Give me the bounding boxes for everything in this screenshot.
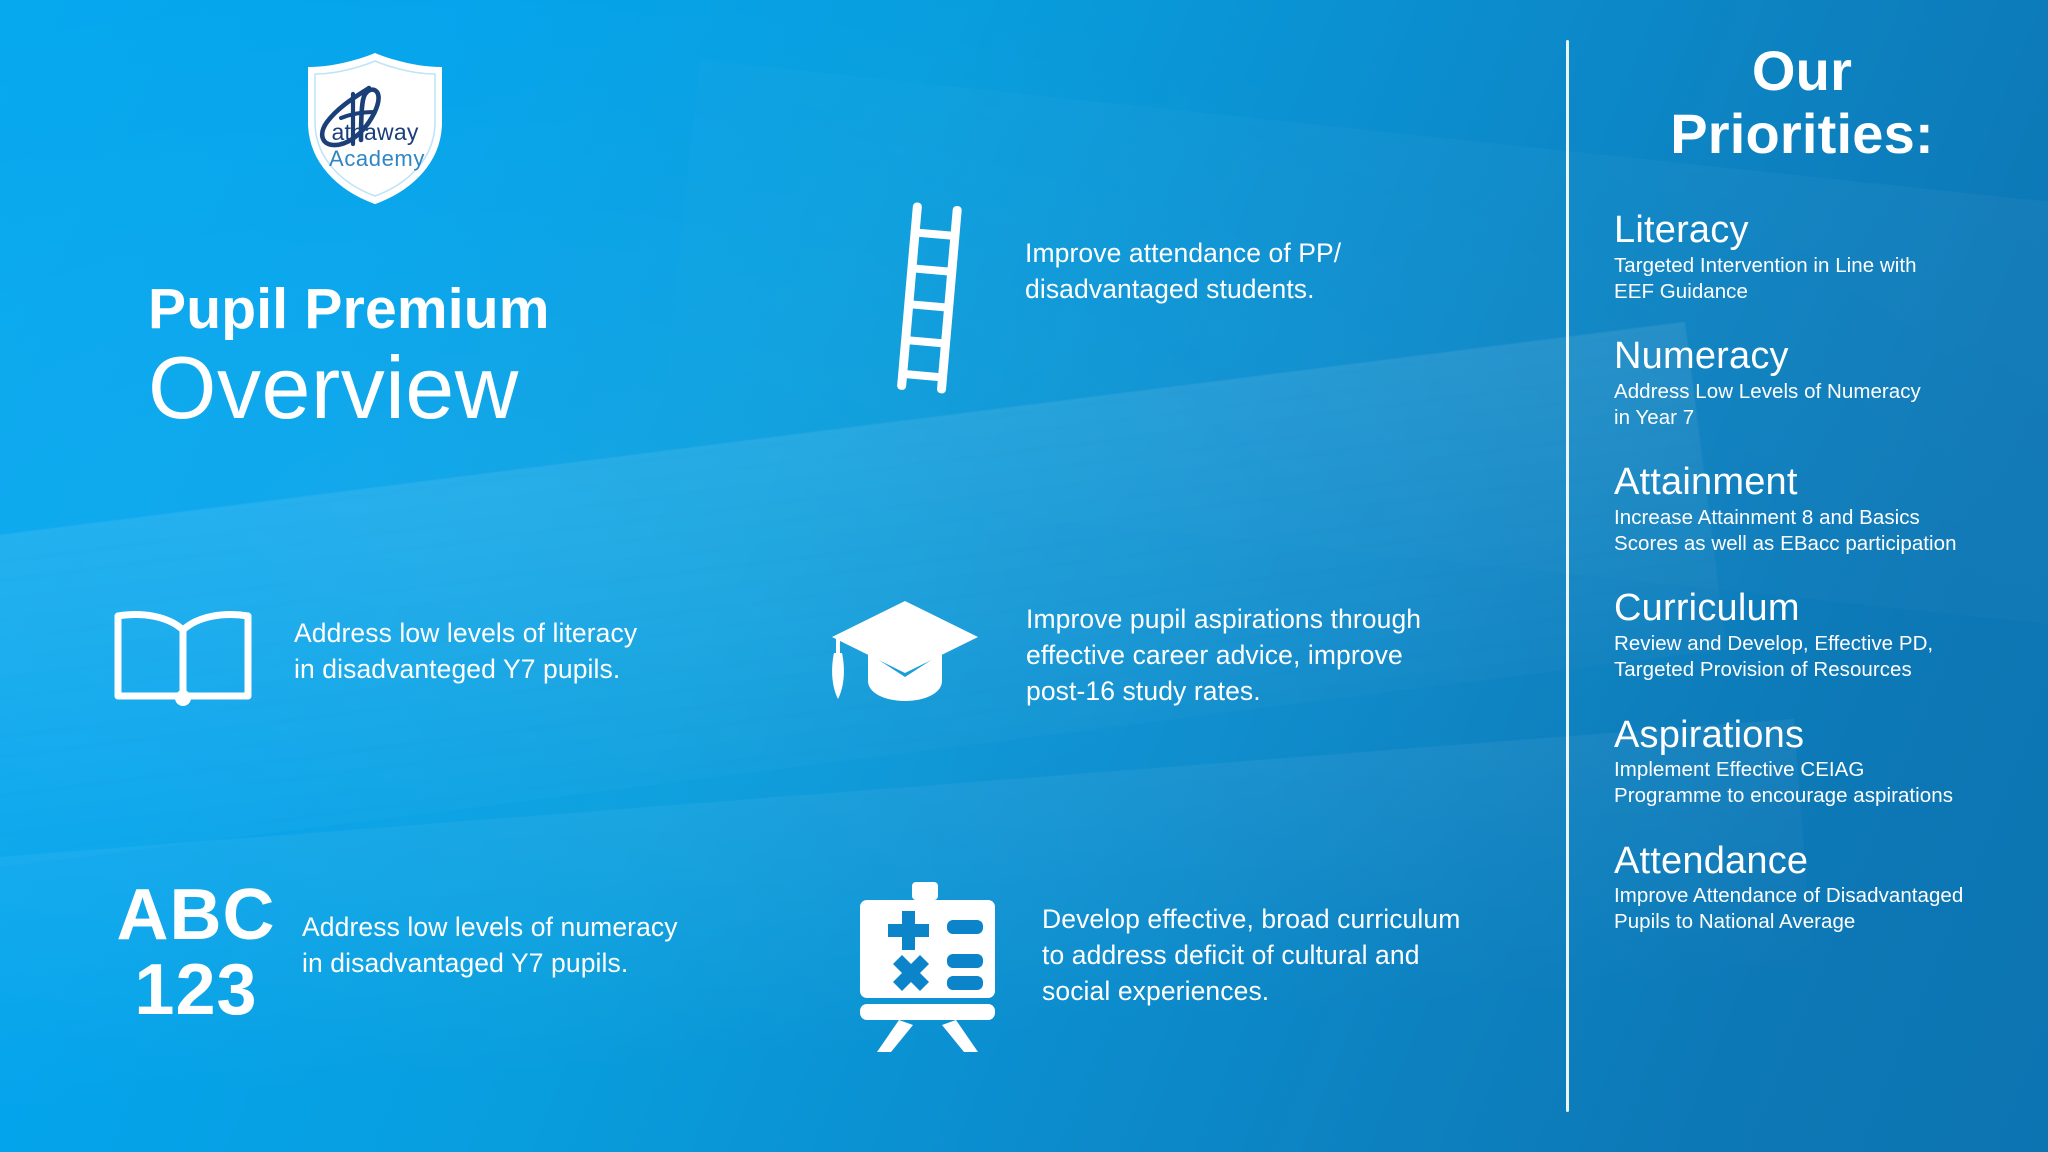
point-aspiration-line-2: effective career advice, improve (1026, 638, 1421, 674)
page-title: Pupil Premium Overview (148, 280, 708, 434)
priority-description: Implement Effective CEIAG Programme to e… (1614, 757, 2014, 809)
hathaway-academy-shield-logo: athaway Academy (295, 48, 455, 208)
priority-desc-line-2: Pupils to National Average (1614, 909, 2014, 935)
priority-item-curriculum: Curriculum Review and Develop, Effective… (1614, 587, 2014, 683)
priority-item-literacy: Literacy Targeted Intervention in Line w… (1614, 209, 2014, 305)
point-attendance-line-2: disadvantaged students. (1025, 272, 1341, 308)
title-line-1: Pupil Premium (148, 280, 708, 340)
point-curriculum-line-2: to address deficit of cultural and (1042, 938, 1460, 974)
priority-desc-line-1: Implement Effective CEIAG (1614, 757, 2014, 783)
priority-desc-line-2: EEF Guidance (1614, 279, 2014, 305)
point-curriculum-text: Develop effective, broad curriculum to a… (1042, 902, 1460, 1009)
point-aspiration: Improve pupil aspirations through effect… (830, 595, 1421, 710)
point-numeracy-line-2: in disadvantaged Y7 pupils. (302, 946, 678, 982)
priority-desc-line-2: Programme to encourage aspirations (1614, 783, 2014, 809)
priorities-heading: Our Priorities: (1614, 40, 1990, 165)
point-curriculum-line-3: social experiences. (1042, 974, 1460, 1010)
priority-description: Increase Attainment 8 and Basics Scores … (1614, 505, 2014, 557)
point-curriculum: Develop effective, broad curriculum to a… (855, 880, 1460, 1052)
priority-name: Aspirations (1614, 714, 2014, 757)
easel-whiteboard-icon (855, 880, 1000, 1052)
priorities-heading-line-2: Priorities: (1614, 103, 1990, 166)
123-text: 123 (108, 953, 284, 1028)
ladder-icon (895, 200, 965, 395)
priority-description: Targeted Intervention in Line with EEF G… (1614, 253, 2014, 305)
priority-name: Attendance (1614, 840, 2014, 883)
priority-desc-line-1: Increase Attainment 8 and Basics (1614, 505, 2014, 531)
priority-desc-line-1: Improve Attendance of Disadvantaged (1614, 883, 2014, 909)
priority-desc-line-1: Address Low Levels of Numeracy (1614, 379, 2014, 405)
priority-item-aspirations: Aspirations Implement Effective CEIAG Pr… (1614, 714, 2014, 810)
point-literacy-text: Address low levels of literacy in disadv… (294, 616, 637, 688)
abc-text: ABC (108, 878, 284, 953)
priority-name: Attainment (1614, 461, 2014, 504)
priority-description: Address Low Levels of Numeracy in Year 7 (1614, 379, 2014, 431)
point-literacy: Address low levels of literacy in disadv… (108, 600, 637, 710)
point-curriculum-line-1: Develop effective, broad curriculum (1042, 902, 1460, 938)
point-aspiration-line-1: Improve pupil aspirations through (1026, 602, 1421, 638)
priority-description: Improve Attendance of Disadvantaged Pupi… (1614, 883, 2014, 935)
priorities-heading-line-1: Our (1614, 40, 1990, 103)
svg-text:Academy: Academy (329, 146, 425, 171)
abc-123-text-icon: ABC 123 (108, 878, 284, 1028)
point-numeracy: ABC 123 Address low levels of numeracy i… (108, 878, 678, 1028)
point-attendance-line-1: Improve attendance of PP/ (1025, 236, 1341, 272)
point-literacy-line-2: in disadvanteged Y7 pupils. (294, 652, 637, 688)
infographic-canvas: athaway Academy Pupil Premium Overview A… (0, 0, 2048, 1152)
priorities-panel: Our Priorities: Literacy Targeted Interv… (1614, 40, 2014, 966)
point-attendance: Improve attendance of PP/ disadvantaged … (895, 200, 1341, 395)
point-literacy-line-1: Address low levels of literacy (294, 616, 637, 652)
open-book-icon (108, 600, 258, 710)
svg-text:athaway: athaway (331, 119, 418, 145)
priority-name: Literacy (1614, 209, 2014, 252)
point-aspiration-text: Improve pupil aspirations through effect… (1026, 602, 1421, 709)
priority-desc-line-2: Targeted Provision of Resources (1614, 657, 2014, 683)
graduation-cap-icon (830, 595, 980, 710)
priority-item-attendance: Attendance Improve Attendance of Disadva… (1614, 840, 2014, 936)
priority-name: Curriculum (1614, 587, 2014, 630)
priority-desc-line-2: in Year 7 (1614, 405, 2014, 431)
priority-description: Review and Develop, Effective PD, Target… (1614, 631, 2014, 683)
priority-item-numeracy: Numeracy Address Low Levels of Numeracy … (1614, 335, 2014, 431)
priority-desc-line-1: Targeted Intervention in Line with (1614, 253, 2014, 279)
point-numeracy-text: Address low levels of numeracy in disadv… (302, 910, 678, 982)
point-aspiration-line-3: post-16 study rates. (1026, 674, 1421, 710)
priority-desc-line-1: Review and Develop, Effective PD, (1614, 631, 2014, 657)
priority-desc-line-2: Scores as well as EBacc participation (1614, 531, 2014, 557)
title-line-2: Overview (148, 342, 708, 434)
priority-name: Numeracy (1614, 335, 2014, 378)
priorities-list: Literacy Targeted Intervention in Line w… (1614, 209, 2014, 935)
point-attendance-text: Improve attendance of PP/ disadvantaged … (1025, 236, 1341, 308)
point-numeracy-line-1: Address low levels of numeracy (302, 910, 678, 946)
priority-item-attainment: Attainment Increase Attainment 8 and Bas… (1614, 461, 2014, 557)
vertical-divider (1566, 40, 1569, 1112)
